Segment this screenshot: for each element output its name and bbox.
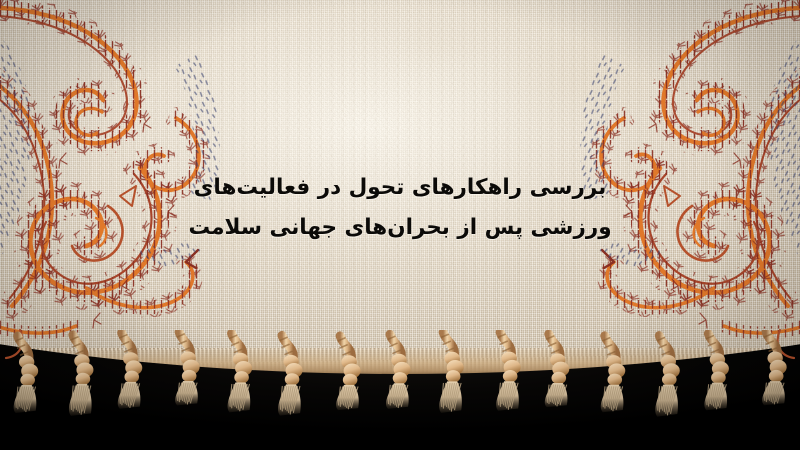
tassel-knot-3	[662, 373, 677, 385]
paisley-ornament-left	[0, 0, 226, 372]
tassel-knot-3	[343, 374, 358, 386]
tassel	[69, 335, 94, 416]
tassel-knot-3	[551, 372, 566, 384]
tassel-fringe-svg	[0, 330, 800, 450]
tassel-knot-3	[393, 372, 408, 384]
tassel	[704, 334, 729, 411]
tassel-fringe	[0, 330, 800, 450]
tassel-knot-3	[769, 370, 784, 382]
tassel	[228, 333, 253, 412]
tassel	[439, 332, 464, 412]
tassel-knot-3	[20, 374, 35, 386]
tassel-knot-3	[124, 371, 139, 383]
tassel	[118, 333, 143, 409]
tassel	[496, 332, 521, 411]
paisley-ornament-right	[574, 0, 800, 372]
tassel-knot-3	[446, 370, 461, 382]
boteh-secondary	[145, 118, 199, 190]
paisley-ornament-left-svg	[0, 0, 226, 372]
tassel	[278, 335, 303, 415]
tassel	[545, 334, 570, 407]
fringe-group	[14, 332, 787, 417]
boteh-spiral-eye	[76, 108, 102, 135]
tassel	[386, 334, 411, 409]
tassel	[762, 332, 787, 405]
tassel-knot-3	[711, 371, 726, 383]
tassel-knot-3	[607, 374, 622, 386]
tassel	[655, 336, 680, 417]
tassel-knot-3	[234, 371, 249, 383]
tassel-knot-3	[76, 373, 91, 385]
tassel-knot-3	[182, 370, 197, 382]
boteh-secondary	[601, 118, 655, 190]
paisley-ornament-right-svg	[574, 0, 800, 372]
tassel	[336, 336, 361, 410]
tassel	[175, 332, 200, 405]
tassel	[14, 336, 38, 413]
tassel-knot-3	[503, 370, 518, 382]
tassel-knot-3	[285, 373, 300, 385]
tassel	[601, 336, 626, 412]
boteh-spiral-eye	[698, 108, 724, 135]
title-card-canvas: بررسی راهکارهای تحول در فعالیت‌های ورزشی…	[0, 0, 800, 450]
